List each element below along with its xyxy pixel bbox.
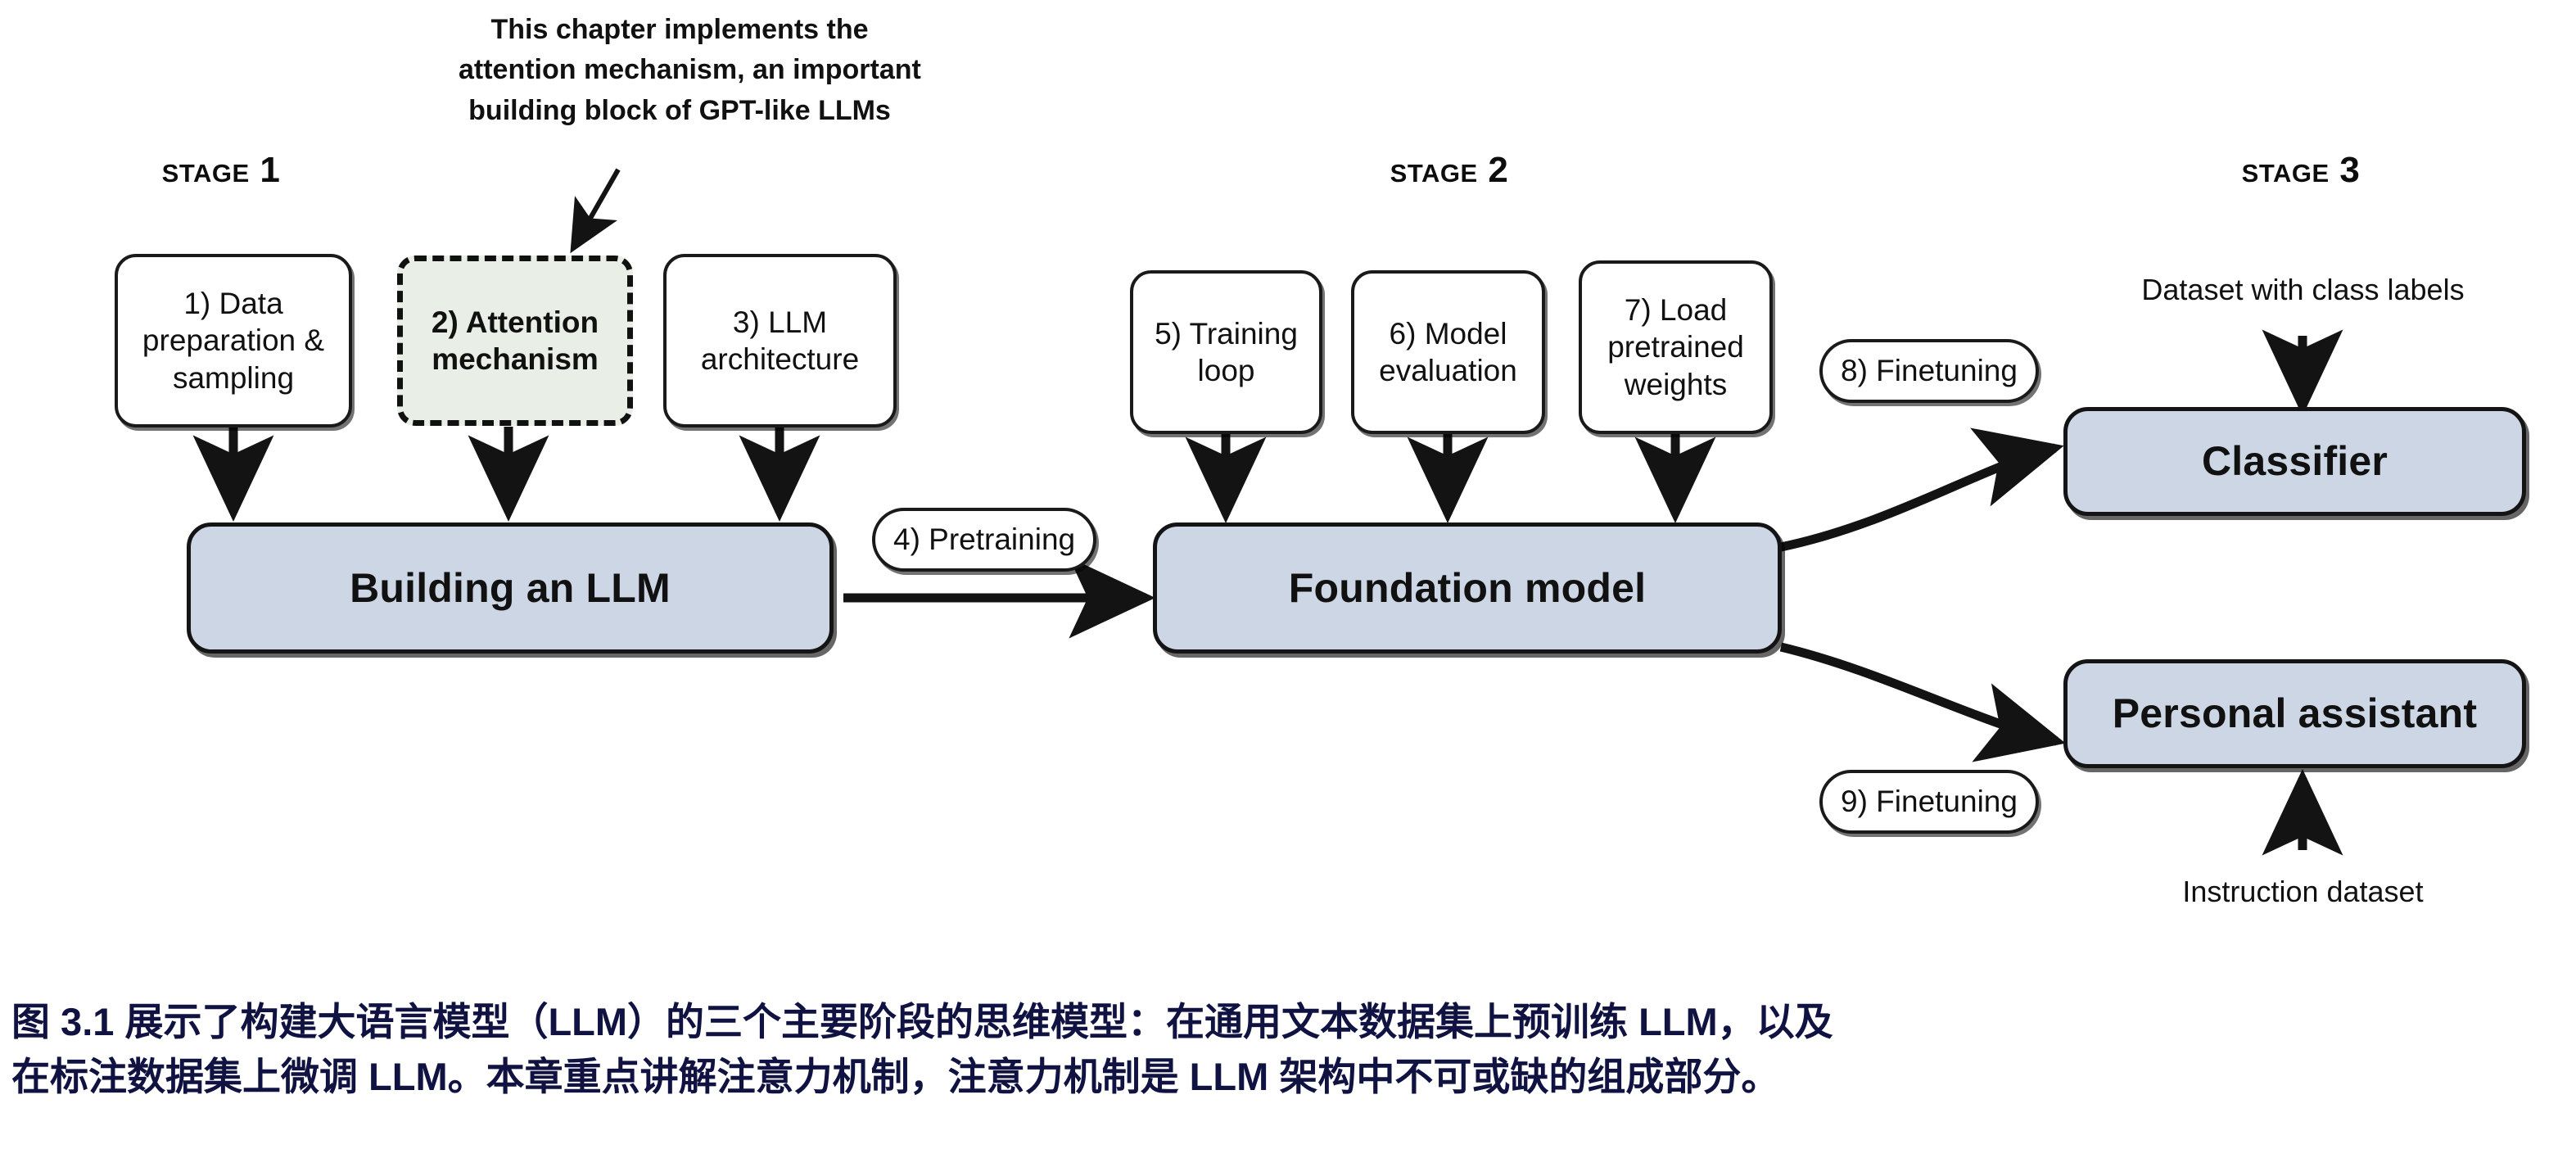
outcome-box-personal-assistant[interactable]: Personal assistant <box>2063 659 2526 768</box>
curve-foundation-to-assistant <box>1781 647 2057 741</box>
label-instruction-dataset: Instruction dataset <box>2108 872 2497 911</box>
outcome-box-building-an-llm[interactable]: Building an LLM <box>187 522 834 654</box>
step-box-training-loop[interactable]: 5) Training loop <box>1130 270 1322 434</box>
stage-2-title: Stage 2 <box>1310 146 1589 195</box>
step-box-load-pretrained-weights[interactable]: 7) Load pretrained weights <box>1579 260 1773 434</box>
annotation-line-1: This chapter implements the <box>459 10 901 50</box>
stage-1-title: Stage 1 <box>82 146 360 195</box>
step-box-llm-architecture[interactable]: 3) LLM architecture <box>663 254 897 427</box>
chapter-annotation: This chapter implements the attention me… <box>459 10 901 131</box>
step-box-model-evaluation[interactable]: 6) Model evaluation <box>1351 270 1545 434</box>
stage-3-title: Stage 3 <box>2162 146 2440 195</box>
figure-caption: 图 3.1 展示了构建大语言模型（LLM）的三个主要阶段的思维模型：在通用文本数… <box>11 995 2566 1104</box>
caption-line-1: 图 3.1 展示了构建大语言模型（LLM）的三个主要阶段的思维模型：在通用文本数… <box>11 995 2566 1050</box>
pill-pretraining[interactable]: 4) Pretraining <box>872 508 1096 572</box>
figure-canvas: This chapter implements the attention me… <box>0 0 2576 1158</box>
pill-finetuning-assistant[interactable]: 9) Finetuning <box>1819 770 2039 834</box>
annotation-line-3: building block of GPT-like LLMs <box>459 91 901 131</box>
step-box-data-preparation[interactable]: 1) Data preparation & sampling <box>115 254 352 427</box>
outcome-box-foundation-model[interactable]: Foundation model <box>1153 522 1782 654</box>
caption-line-2: 在标注数据集上微调 LLM。本章重点讲解注意力机制，注意力机制是 LLM 架构中… <box>11 1050 2566 1105</box>
annotation-line-2: attention mechanism, an important <box>459 50 901 90</box>
pill-finetuning-classifier[interactable]: 8) Finetuning <box>1819 339 2039 403</box>
annotation-pointer-arrow <box>573 170 618 248</box>
outcome-box-classifier[interactable]: Classifier <box>2063 407 2526 516</box>
label-dataset-with-class-labels: Dataset with class labels <box>2096 270 2510 310</box>
step-box-attention-mechanism[interactable]: 2) Attention mechanism <box>397 256 633 426</box>
curve-foundation-to-classifier <box>1781 448 2055 547</box>
